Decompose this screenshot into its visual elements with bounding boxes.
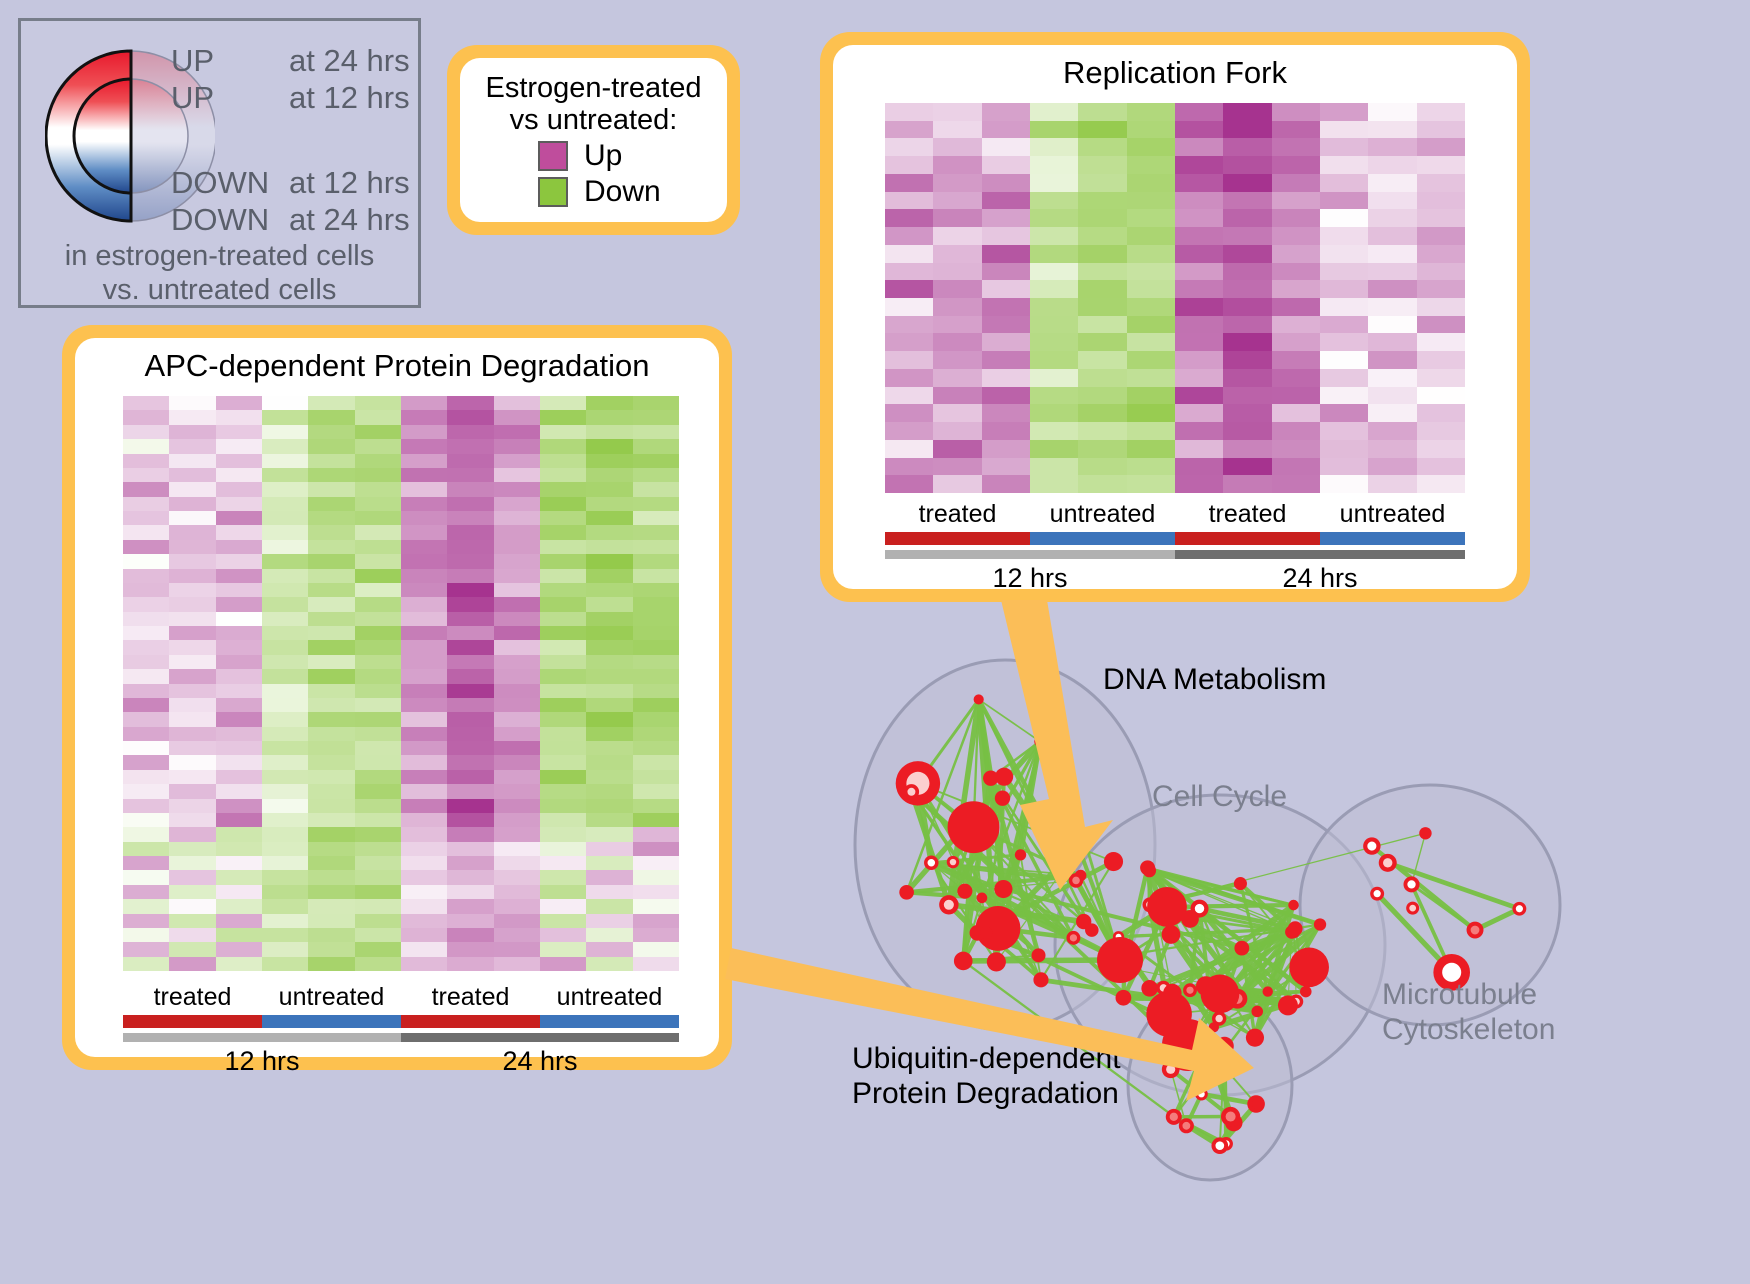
heatmap-cell bbox=[308, 511, 354, 525]
heatmap-cell bbox=[586, 482, 632, 496]
network-node[interactable] bbox=[1163, 984, 1181, 1002]
network-node[interactable] bbox=[987, 952, 1006, 971]
heatmap-cell bbox=[401, 842, 447, 856]
heatmap-cell bbox=[355, 454, 401, 468]
heatmap-cell bbox=[982, 316, 1030, 334]
heatmap-cell bbox=[586, 612, 632, 626]
legend-item-down: Down bbox=[538, 175, 727, 209]
heatmap-cell bbox=[494, 454, 540, 468]
heatmap-cell bbox=[308, 540, 354, 554]
apc-panel-title: APC-dependent Protein Degradation bbox=[75, 338, 719, 384]
heatmap-cell bbox=[494, 396, 540, 410]
network-node[interactable] bbox=[1263, 986, 1273, 996]
heatmap-cell bbox=[633, 439, 679, 453]
heatmap-cell bbox=[447, 640, 493, 654]
heatmap-cell bbox=[1272, 192, 1320, 210]
heatmap-cell bbox=[401, 928, 447, 942]
heatmap-cell bbox=[123, 942, 169, 956]
heatmap-cell bbox=[633, 525, 679, 539]
heatmap-cell bbox=[1320, 263, 1368, 281]
heatmap-cell bbox=[355, 439, 401, 453]
network-node[interactable] bbox=[1034, 736, 1045, 747]
heatmap-cell bbox=[169, 698, 215, 712]
heatmap-cell bbox=[586, 655, 632, 669]
heatmap-cell bbox=[308, 914, 354, 928]
heatmap-cell bbox=[169, 741, 215, 755]
heatmap-cell bbox=[540, 712, 586, 726]
heatmap-cell bbox=[1175, 369, 1223, 387]
heatmap-cell bbox=[1030, 174, 1078, 192]
heatmap-cell bbox=[494, 741, 540, 755]
heatmap-cell bbox=[1320, 209, 1368, 227]
heatmap-cell bbox=[169, 770, 215, 784]
heatmap-cell bbox=[633, 899, 679, 913]
replication-fork-time-bar bbox=[885, 550, 1465, 559]
heatmap-cell bbox=[540, 669, 586, 683]
heatmap-cell bbox=[169, 914, 215, 928]
heatmap-cell bbox=[586, 597, 632, 611]
heatmap-cell bbox=[355, 597, 401, 611]
heatmap-cell bbox=[1223, 227, 1271, 245]
heatmap-cell bbox=[216, 885, 262, 899]
heatmap-cell bbox=[494, 597, 540, 611]
cluster-label-dna-metabolism: DNA Metabolism bbox=[1103, 663, 1326, 698]
heatmap-cell bbox=[355, 410, 401, 424]
network-node[interactable] bbox=[1141, 980, 1158, 997]
heatmap-cell bbox=[1078, 458, 1126, 476]
key-state: UP bbox=[171, 82, 289, 113]
key-state: UP bbox=[171, 45, 289, 76]
heatmap-cell bbox=[123, 626, 169, 640]
heatmap-cell bbox=[355, 525, 401, 539]
heatmap-cell bbox=[123, 914, 169, 928]
apc-protein-degradation-panel: APC-dependent Protein Degradation treate… bbox=[62, 325, 732, 1070]
heatmap-cell bbox=[262, 626, 308, 640]
heatmap-cell bbox=[447, 410, 493, 424]
heatmap-cell bbox=[262, 554, 308, 568]
network-node-core bbox=[1080, 836, 1089, 845]
heatmap-cell bbox=[123, 727, 169, 741]
heatmap-cell bbox=[633, 770, 679, 784]
heatmap-cell bbox=[633, 928, 679, 942]
heatmap-cell bbox=[885, 263, 933, 281]
time-label: 12 hrs bbox=[885, 563, 1175, 594]
heatmap-cell bbox=[123, 410, 169, 424]
heatmap-cell bbox=[447, 856, 493, 870]
heatmap-cell bbox=[885, 422, 933, 440]
heatmap-cell bbox=[494, 727, 540, 741]
heatmap-cell bbox=[540, 942, 586, 956]
heatmap-cell bbox=[933, 387, 981, 405]
key-row-down12: DOWN at 12 hrs bbox=[171, 167, 421, 198]
heatmap-cell bbox=[1078, 174, 1126, 192]
heatmap-cell bbox=[1127, 387, 1175, 405]
legend-title: Estrogen-treated vs untreated: bbox=[460, 72, 727, 137]
heatmap-cell bbox=[355, 626, 401, 640]
heatmap-cell bbox=[355, 583, 401, 597]
heatmap-cell bbox=[447, 482, 493, 496]
heatmap-cell bbox=[633, 784, 679, 798]
heatmap-cell bbox=[586, 899, 632, 913]
heatmap-cell bbox=[1223, 138, 1271, 156]
heatmap-cell bbox=[494, 540, 540, 554]
heatmap-cell bbox=[586, 511, 632, 525]
heatmap-cell bbox=[262, 827, 308, 841]
network-node[interactable] bbox=[1300, 986, 1312, 998]
heatmap-cell bbox=[633, 957, 679, 971]
heatmap-cell bbox=[262, 468, 308, 482]
heatmap-cell bbox=[633, 569, 679, 583]
heatmap-cell bbox=[1175, 192, 1223, 210]
group-label: untreated bbox=[1030, 500, 1175, 529]
network-node[interactable] bbox=[957, 884, 972, 899]
heatmap-cell bbox=[1368, 316, 1416, 334]
heatmap-cell bbox=[1175, 174, 1223, 192]
heatmap-cell bbox=[933, 316, 981, 334]
heatmap-cell bbox=[1320, 298, 1368, 316]
ring-labels: UP at 24 hrs UP at 12 hrs DOWN at 12 hrs… bbox=[171, 45, 421, 235]
heatmap-cell bbox=[262, 569, 308, 583]
heatmap-cell bbox=[494, 583, 540, 597]
heatmap-cell bbox=[885, 138, 933, 156]
heatmap-cell bbox=[1030, 103, 1078, 121]
heatmap-cell bbox=[216, 540, 262, 554]
heatmap-cell bbox=[885, 227, 933, 245]
network-node[interactable] bbox=[1314, 918, 1326, 930]
heatmap-cell bbox=[633, 612, 679, 626]
heatmap-cell bbox=[169, 482, 215, 496]
heatmap-cell bbox=[1127, 121, 1175, 139]
heatmap-cell bbox=[216, 928, 262, 942]
heatmap-cell bbox=[262, 497, 308, 511]
heatmap-cell bbox=[355, 914, 401, 928]
heatmap-cell bbox=[169, 856, 215, 870]
heatmap-cell bbox=[494, 799, 540, 813]
heatmap-cell bbox=[633, 914, 679, 928]
heatmap-cell bbox=[933, 227, 981, 245]
heatmap-cell bbox=[1417, 121, 1465, 139]
network-node[interactable] bbox=[1288, 900, 1299, 911]
heatmap-cell bbox=[308, 569, 354, 583]
heatmap-cell bbox=[586, 684, 632, 698]
network-node[interactable] bbox=[1032, 948, 1046, 962]
key-row-up12: UP at 12 hrs bbox=[171, 82, 421, 113]
heatmap-cell bbox=[308, 468, 354, 482]
heatmap-cell bbox=[123, 712, 169, 726]
heatmap-cell bbox=[1272, 121, 1320, 139]
heatmap-cell bbox=[123, 554, 169, 568]
heatmap-cell bbox=[1272, 387, 1320, 405]
heatmap-cell bbox=[308, 899, 354, 913]
heatmap-cell bbox=[1175, 351, 1223, 369]
heatmap-cell bbox=[355, 684, 401, 698]
network-node-core bbox=[1070, 934, 1077, 941]
heatmap-cell bbox=[1272, 227, 1320, 245]
heatmap-cell bbox=[1030, 475, 1078, 493]
heatmap-cell bbox=[401, 482, 447, 496]
heatmap-cell bbox=[933, 404, 981, 422]
heatmap-cell bbox=[633, 885, 679, 899]
heatmap-cell bbox=[540, 813, 586, 827]
heatmap-cell bbox=[123, 770, 169, 784]
heatmap-cell bbox=[447, 626, 493, 640]
network-node[interactable] bbox=[1278, 995, 1298, 1015]
network-node[interactable] bbox=[1289, 947, 1329, 987]
heatmap-cell bbox=[123, 468, 169, 482]
heatmap-cell bbox=[262, 655, 308, 669]
key-row-down24: DOWN at 24 hrs bbox=[171, 204, 421, 235]
heatmap-cell bbox=[1078, 138, 1126, 156]
heatmap-cell bbox=[885, 351, 933, 369]
heatmap-cell bbox=[1078, 192, 1126, 210]
heatmap-cell bbox=[169, 425, 215, 439]
apc-time-bar bbox=[123, 1033, 679, 1042]
heatmap-cell bbox=[1368, 138, 1416, 156]
heatmap-cell bbox=[447, 597, 493, 611]
heatmap-cell bbox=[540, 799, 586, 813]
network-node[interactable] bbox=[994, 880, 1012, 898]
heatmap-cell bbox=[169, 454, 215, 468]
heatmap-cell bbox=[401, 569, 447, 583]
heatmap-cell bbox=[1368, 333, 1416, 351]
heatmap-cell bbox=[169, 410, 215, 424]
heatmap-cell bbox=[1127, 422, 1175, 440]
heatmap-cell bbox=[494, 554, 540, 568]
heatmap-cell bbox=[123, 482, 169, 496]
heatmap-cell bbox=[216, 684, 262, 698]
heatmap-cell bbox=[633, 684, 679, 698]
network-node[interactable] bbox=[1097, 937, 1143, 983]
heatmap-cell bbox=[401, 755, 447, 769]
heatmap-cell bbox=[933, 351, 981, 369]
time-label: 24 hrs bbox=[401, 1046, 679, 1077]
time-bar-seg bbox=[885, 550, 1175, 559]
heatmap-cell bbox=[1368, 245, 1416, 263]
network-node-core bbox=[1220, 1041, 1230, 1051]
heatmap-cell bbox=[123, 957, 169, 971]
heatmap-cell bbox=[1030, 458, 1078, 476]
network-node[interactable] bbox=[899, 885, 914, 900]
heatmap-cell bbox=[885, 440, 933, 458]
heatmap-cell bbox=[1030, 422, 1078, 440]
heatmap-cell bbox=[586, 741, 632, 755]
heatmap-cell bbox=[262, 741, 308, 755]
group-label: treated bbox=[1175, 500, 1320, 529]
heatmap-cell bbox=[1030, 351, 1078, 369]
heatmap-cell bbox=[216, 626, 262, 640]
heatmap-cell bbox=[586, 942, 632, 956]
heatmap-cell bbox=[933, 263, 981, 281]
heatmap-cell bbox=[123, 669, 169, 683]
heatmap-cell bbox=[1272, 263, 1320, 281]
heatmap-cell bbox=[447, 755, 493, 769]
heatmap-cell bbox=[885, 316, 933, 334]
network-node[interactable] bbox=[974, 694, 984, 704]
heatmap-cell bbox=[494, 482, 540, 496]
heatmap-cell bbox=[262, 942, 308, 956]
heatmap-cell bbox=[123, 439, 169, 453]
heatmap-cell bbox=[169, 755, 215, 769]
heatmap-cell bbox=[1175, 280, 1223, 298]
heatmap-cell bbox=[1223, 298, 1271, 316]
heatmap-cell bbox=[355, 482, 401, 496]
network-node[interactable] bbox=[1201, 974, 1240, 1013]
heatmap-cell bbox=[169, 583, 215, 597]
ubiquitin-line2: Protein Degradation bbox=[852, 1077, 1121, 1112]
heatmap-cell bbox=[1368, 298, 1416, 316]
heatmap-cell bbox=[982, 387, 1030, 405]
heatmap-cell bbox=[494, 497, 540, 511]
cluster-label-cell-cycle: Cell Cycle bbox=[1152, 780, 1287, 815]
heatmap-cell bbox=[1417, 263, 1465, 281]
network-node-core bbox=[1409, 905, 1416, 912]
color-key-box: UP at 24 hrs UP at 12 hrs DOWN at 12 hrs… bbox=[18, 18, 421, 308]
heatmap-cell bbox=[401, 525, 447, 539]
heatmap-cell bbox=[633, 540, 679, 554]
time-label: 24 hrs bbox=[1175, 563, 1465, 594]
heatmap-cell bbox=[1417, 280, 1465, 298]
heatmap-cell bbox=[262, 770, 308, 784]
network-node[interactable] bbox=[980, 927, 992, 939]
heatmap-cell bbox=[169, 870, 215, 884]
heatmap-cell bbox=[540, 655, 586, 669]
heatmap-cell bbox=[262, 755, 308, 769]
heatmap-cell bbox=[540, 439, 586, 453]
heatmap-cell bbox=[494, 942, 540, 956]
updown-legend-panel: Estrogen-treated vs untreated: Up Down bbox=[447, 45, 740, 235]
heatmap-cell bbox=[169, 669, 215, 683]
heatmap-cell bbox=[586, 497, 632, 511]
heatmap-cell bbox=[586, 712, 632, 726]
heatmap-cell bbox=[1078, 351, 1126, 369]
heatmap-cell bbox=[540, 583, 586, 597]
heatmap-cell bbox=[216, 770, 262, 784]
heatmap-cell bbox=[308, 640, 354, 654]
heatmap-cell bbox=[262, 712, 308, 726]
heatmap-cell bbox=[447, 813, 493, 827]
heatmap-cell bbox=[1417, 103, 1465, 121]
heatmap-cell bbox=[169, 497, 215, 511]
network-node[interactable] bbox=[1104, 852, 1123, 871]
heatmap-cell bbox=[447, 583, 493, 597]
heatmap-cell bbox=[1030, 156, 1078, 174]
heatmap-cell bbox=[169, 684, 215, 698]
heatmap-cell bbox=[355, 799, 401, 813]
network-node[interactable] bbox=[995, 768, 1013, 786]
heatmap-cell bbox=[216, 669, 262, 683]
heatmap-cell bbox=[1368, 103, 1416, 121]
heatmap-cell bbox=[540, 684, 586, 698]
heatmap-cell bbox=[216, 410, 262, 424]
network-node[interactable] bbox=[1033, 972, 1048, 987]
heatmap-cell bbox=[355, 727, 401, 741]
network-node[interactable] bbox=[1143, 864, 1156, 877]
heatmap-cell bbox=[586, 569, 632, 583]
heatmap-cell bbox=[216, 698, 262, 712]
network-node[interactable] bbox=[1181, 910, 1199, 928]
network-node[interactable] bbox=[1234, 941, 1249, 956]
heatmap-cell bbox=[1223, 333, 1271, 351]
heatmap-cell bbox=[123, 640, 169, 654]
heatmap-cell bbox=[1175, 440, 1223, 458]
key-time: at 12 hrs bbox=[289, 167, 410, 198]
network-node[interactable] bbox=[1162, 1019, 1214, 1071]
network-node[interactable] bbox=[1251, 1006, 1263, 1018]
network-node[interactable] bbox=[1085, 923, 1098, 936]
heatmap-cell bbox=[540, 827, 586, 841]
heatmap-cell bbox=[447, 540, 493, 554]
network-node-core bbox=[1226, 1112, 1236, 1122]
heatmap-cell bbox=[494, 712, 540, 726]
heatmap-cell bbox=[262, 439, 308, 453]
network-node[interactable] bbox=[1285, 925, 1298, 938]
heatmap-cell bbox=[262, 813, 308, 827]
heatmap-cell bbox=[216, 583, 262, 597]
heatmap-cell bbox=[982, 138, 1030, 156]
replication-fork-panel: Replication Fork treated untreated treat… bbox=[820, 32, 1530, 602]
heatmap-cell bbox=[1272, 209, 1320, 227]
network-node[interactable] bbox=[977, 893, 988, 904]
heatmap-cell bbox=[1417, 245, 1465, 263]
heatmap-cell bbox=[262, 799, 308, 813]
heatmap-cell bbox=[401, 741, 447, 755]
heatmap-cell bbox=[308, 885, 354, 899]
heatmap-cell bbox=[1175, 227, 1223, 245]
heatmap-cell bbox=[355, 741, 401, 755]
heatmap-cell bbox=[540, 741, 586, 755]
legend-title-line2: vs untreated: bbox=[460, 104, 727, 136]
heatmap-cell bbox=[123, 784, 169, 798]
heatmap-cell bbox=[1175, 209, 1223, 227]
heatmap-cell bbox=[262, 669, 308, 683]
heatmap-cell bbox=[1127, 245, 1175, 263]
heatmap-cell bbox=[586, 755, 632, 769]
group-label: treated bbox=[401, 983, 540, 1012]
heatmap-cell bbox=[1320, 475, 1368, 493]
heatmap-cell bbox=[401, 914, 447, 928]
heatmap-cell bbox=[494, 928, 540, 942]
heatmap-cell bbox=[308, 554, 354, 568]
heatmap-cell bbox=[308, 396, 354, 410]
heatmap-cell bbox=[1417, 475, 1465, 493]
network-node[interactable] bbox=[1116, 990, 1132, 1006]
network-node[interactable] bbox=[948, 801, 1000, 853]
heatmap-cell bbox=[216, 525, 262, 539]
heatmap-cell bbox=[1078, 121, 1126, 139]
heatmap-cell bbox=[1320, 458, 1368, 476]
heatmap-cell bbox=[633, 468, 679, 482]
heatmap-cell bbox=[308, 727, 354, 741]
heatmap-cell bbox=[216, 655, 262, 669]
heatmap-cell bbox=[1272, 422, 1320, 440]
heatmap-cell bbox=[633, 396, 679, 410]
heatmap-cell bbox=[982, 404, 1030, 422]
heatmap-cell bbox=[1175, 298, 1223, 316]
network-node[interactable] bbox=[954, 952, 973, 971]
network-node[interactable] bbox=[1246, 1029, 1264, 1047]
heatmap-cell bbox=[123, 612, 169, 626]
heatmap-cell bbox=[401, 626, 447, 640]
network-node[interactable] bbox=[1015, 849, 1026, 860]
network-node[interactable] bbox=[1162, 925, 1181, 944]
heatmap-cell bbox=[1320, 422, 1368, 440]
heatmap-cell bbox=[982, 351, 1030, 369]
heatmap-cell bbox=[494, 870, 540, 884]
heatmap-cell bbox=[355, 655, 401, 669]
heatmap-cell bbox=[1175, 404, 1223, 422]
heatmap-cell bbox=[401, 511, 447, 525]
heatmap-cell bbox=[1417, 387, 1465, 405]
